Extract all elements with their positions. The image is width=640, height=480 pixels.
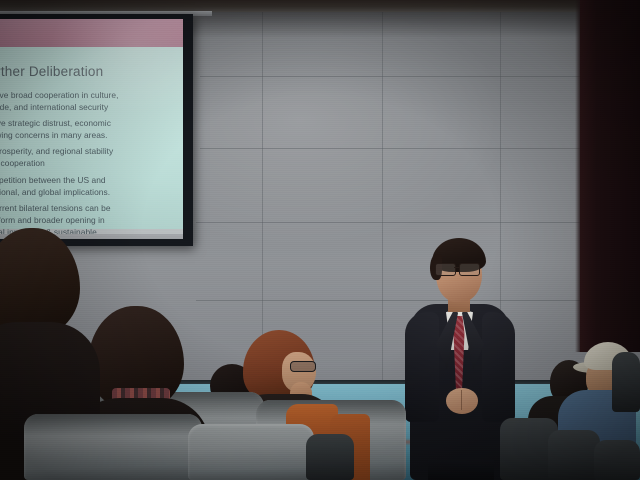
glasses-bridge [454,267,459,268]
dark-wall-curtain [580,0,640,352]
wall-tile-seam [200,76,640,77]
seat-back [188,424,314,480]
slide-bullet-line: China cooperation [0,157,183,169]
projection-screen: Further Deliberation US have broad coope… [0,14,193,246]
slide-title: Further Deliberation [0,64,183,79]
seat-back [612,352,640,412]
wall-tile-seam [382,0,383,382]
slide-bullet-line: US have broad cooperation in culture, [0,89,183,101]
slide-bullet-line: al, national, and global implications. [0,186,183,198]
wall-tile-seam [200,148,640,149]
presentation-slide: Further Deliberation US have broad coope… [0,19,183,229]
glasses-lens-right [459,263,480,276]
glasses-lens-left [435,263,456,276]
slide-bullet-line: the current bilateral tensions can be [0,202,183,214]
slide-bullet-line: d growing concerns in many areas. [0,129,183,141]
slide-bullet-line: per reform and broader opening in [0,214,183,226]
speaker-trousers [428,460,494,480]
slide-bullet-line: d competition between the US and [0,174,183,186]
slide-bullet-list: US have broad cooperation in culture, ce… [0,89,183,239]
slide-header-band [0,19,183,47]
seat-back [594,440,640,480]
presentation-photograph: Further Deliberation US have broad coope… [0,0,640,480]
slide-bullet-line: obal prosperity, and regional stability [0,145,183,157]
slide-bullet-line: ce, trade, and international security [0,101,183,113]
seat-back [548,430,600,480]
glasses-icon [290,361,316,372]
speaker-hand-divide [461,390,462,410]
wall-tile-seam [262,0,263,382]
slide-bullet-line: es have strategic distrust, economic [0,117,183,129]
glasses-icon [435,263,483,274]
speaker-shoulder-right [482,312,515,422]
seat-back [306,434,354,480]
seat-shadow [24,414,202,436]
projection-screen-surface: Further Deliberation US have broad coope… [0,19,183,239]
speaker-shoulder-left [405,312,439,422]
